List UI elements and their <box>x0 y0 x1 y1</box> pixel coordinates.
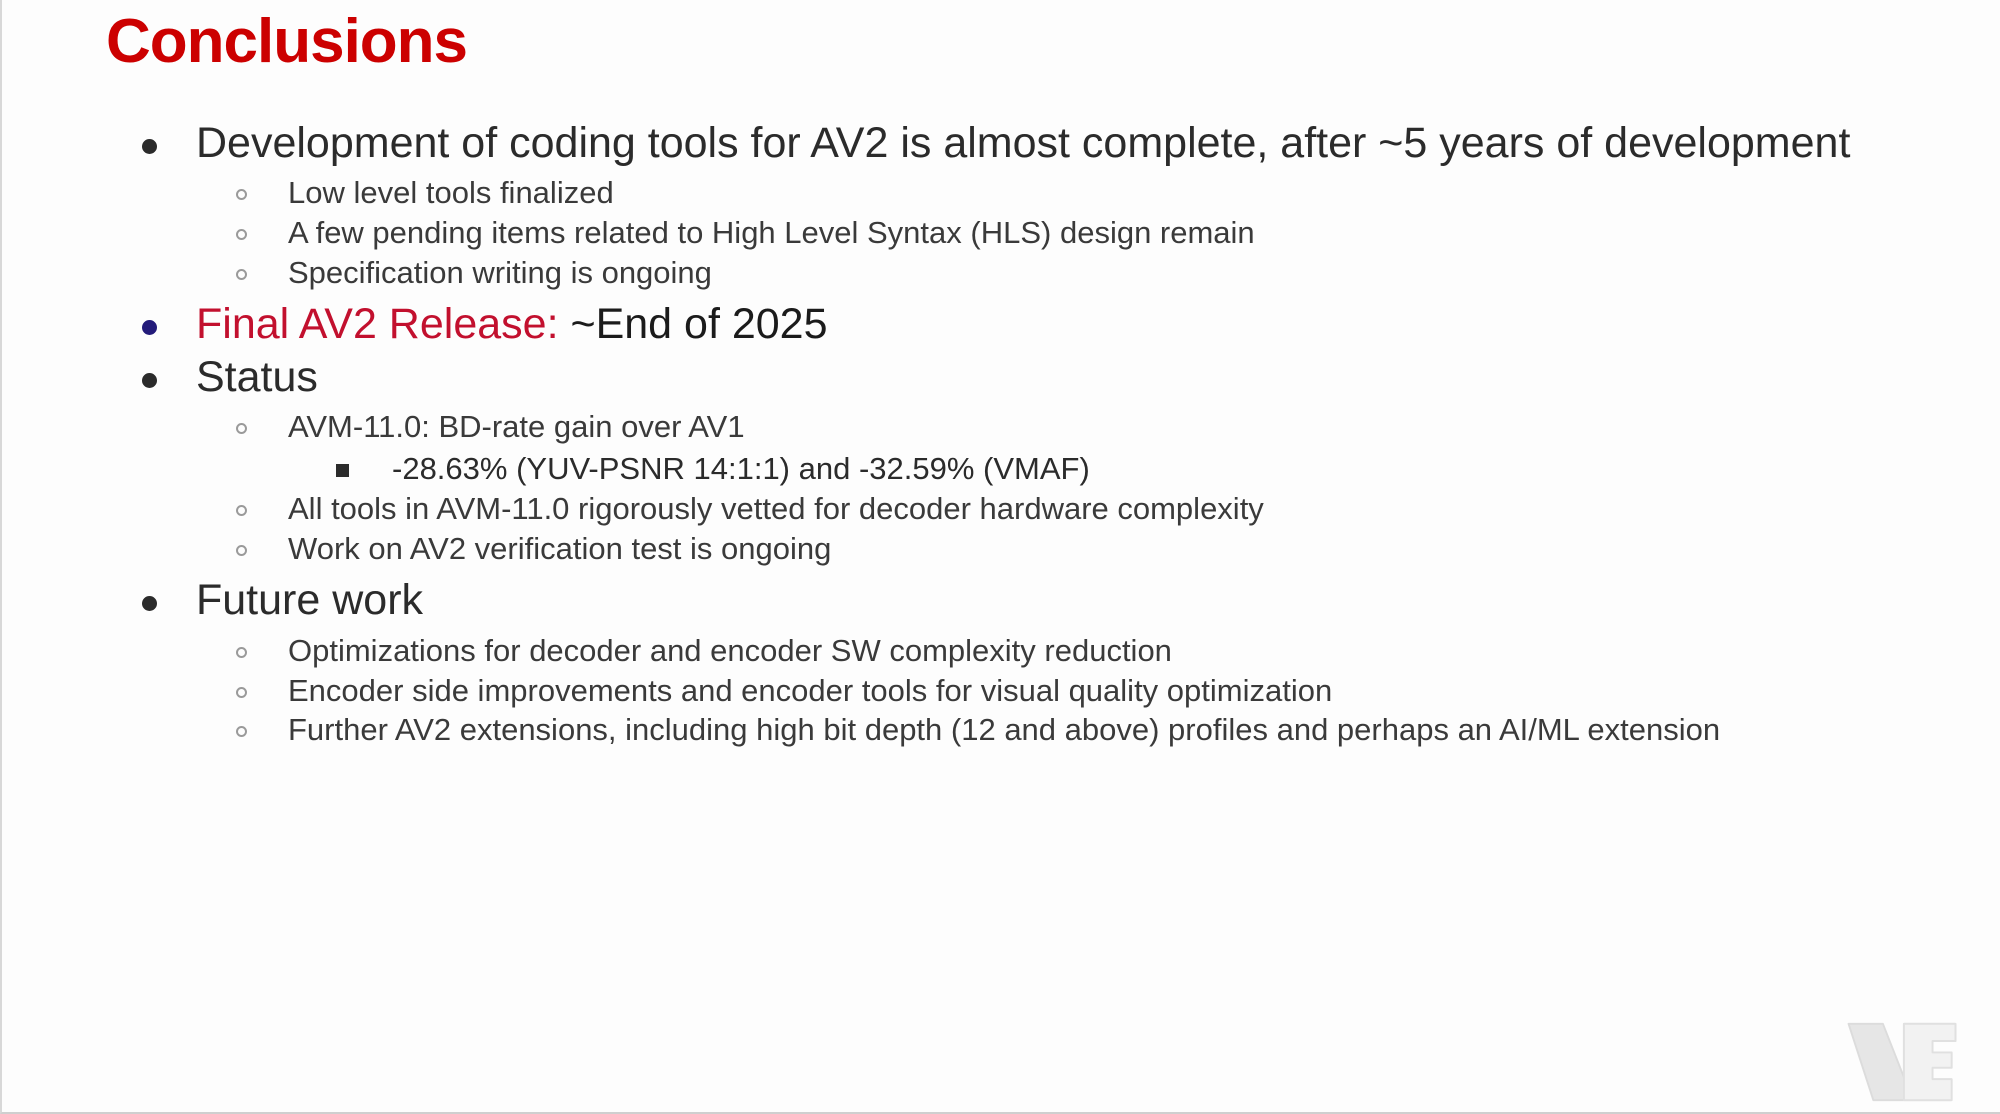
sub-bullet-spec-writing: Specification writing is ongoing <box>106 253 1966 293</box>
verge-v-logo-icon <box>1844 1020 1960 1104</box>
sub-bullet-encoder-improvements: Encoder side improvements and encoder to… <box>106 671 1966 711</box>
bullet-circle-icon <box>236 269 247 280</box>
bullet-list-level-2-status: AVM-11.0: BD-rate gain over AV1 -28.63% … <box>106 407 1966 569</box>
slide-body: Development of coding tools for AV2 is a… <box>106 118 1966 750</box>
bullet-circle-icon <box>236 545 247 556</box>
sub-bullet-text: All tools in AVM-11.0 rigorously vetted … <box>288 491 1264 526</box>
bullet-dot-icon <box>142 373 157 388</box>
sub-bullet-low-level-tools: Low level tools finalized <box>106 173 1966 213</box>
bullet-text: Development of coding tools for AV2 is a… <box>196 119 1850 167</box>
sub-bullet-sw-complexity: Optimizations for decoder and encoder SW… <box>106 631 1966 671</box>
sub-sub-bullet-text: -28.63% (YUV-PSNR 14:1:1) and -32.59% (V… <box>392 451 1090 486</box>
bullet-list-level-1: Development of coding tools for AV2 is a… <box>106 118 1966 750</box>
page-title: Conclusions <box>106 8 467 76</box>
bullet-circle-icon <box>236 229 247 240</box>
bullet-status: Status <box>106 352 1966 403</box>
sub-sub-bullet-bd-rate-numbers: -28.63% (YUV-PSNR 14:1:1) and -32.59% (V… <box>288 449 1966 489</box>
sub-bullet-hls-pending: A few pending items related to High Leve… <box>106 213 1966 253</box>
bullet-dot-icon <box>142 139 157 154</box>
sub-bullet-text: Specification writing is ongoing <box>288 255 712 290</box>
bullet-list-level-2-development: Low level tools finalized A few pending … <box>106 173 1966 293</box>
sub-bullet-text: A few pending items related to High Leve… <box>288 215 1255 250</box>
sub-bullet-text: Further AV2 extensions, including high b… <box>288 712 1720 747</box>
bullet-development: Development of coding tools for AV2 is a… <box>106 118 1966 169</box>
bullet-text: Future work <box>196 576 423 624</box>
sub-bullet-hardware-complexity: All tools in AVM-11.0 rigorously vetted … <box>106 489 1966 529</box>
bullet-text-date: ~End of 2025 <box>559 300 828 348</box>
bullet-circle-icon <box>236 726 247 737</box>
sub-bullet-text: Encoder side improvements and encoder to… <box>288 673 1332 708</box>
bullet-square-icon <box>336 464 349 477</box>
bullet-circle-icon <box>236 505 247 516</box>
bullet-circle-icon <box>236 647 247 658</box>
bullet-final-av2-release: Final AV2 Release: ~End of 2025 <box>106 299 1966 350</box>
bullet-text-highlight: Final AV2 Release: <box>196 300 559 348</box>
bullet-list-level-2-future-work: Optimizations for decoder and encoder SW… <box>106 631 1966 751</box>
bullet-text: Status <box>196 353 318 401</box>
bullet-circle-icon <box>236 687 247 698</box>
bullet-list-level-3: -28.63% (YUV-PSNR 14:1:1) and -32.59% (V… <box>288 449 1966 489</box>
sub-bullet-av2-extensions: Further AV2 extensions, including high b… <box>106 710 1966 750</box>
bullet-dot-icon-accent <box>142 320 157 335</box>
sub-bullet-bd-rate-gain: AVM-11.0: BD-rate gain over AV1 -28.63% … <box>106 407 1966 489</box>
sub-bullet-text: Work on AV2 verification test is ongoing <box>288 531 831 566</box>
bullet-dot-icon <box>142 596 157 611</box>
sub-bullet-text: Low level tools finalized <box>288 175 614 210</box>
bullet-future-work: Future work <box>106 575 1966 626</box>
sub-bullet-text: AVM-11.0: BD-rate gain over AV1 <box>288 409 745 444</box>
sub-bullet-verification-test: Work on AV2 verification test is ongoing <box>106 529 1966 569</box>
sub-bullet-text: Optimizations for decoder and encoder SW… <box>288 633 1172 668</box>
bullet-circle-icon <box>236 189 247 200</box>
presentation-slide: Conclusions Development of coding tools … <box>0 0 2000 1114</box>
bullet-circle-icon <box>236 423 247 434</box>
